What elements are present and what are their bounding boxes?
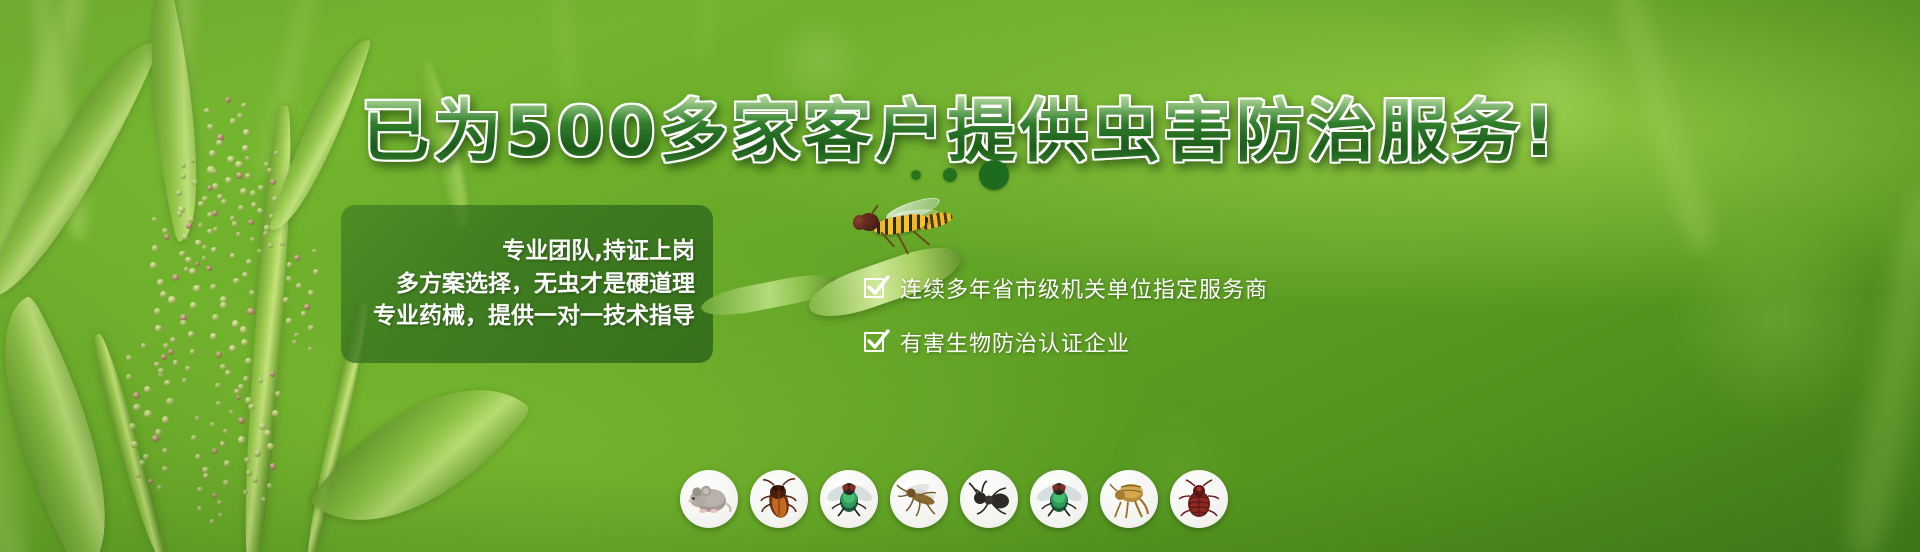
bedbug-icon[interactable]: [1170, 470, 1228, 528]
selling-point-line-1: 专业团队,持证上岗: [341, 235, 695, 268]
selling-point-line-2: 多方案选择，无虫才是硬道理: [341, 268, 695, 301]
decorative-dot-large: [979, 160, 1009, 190]
selling-points-panel: 专业团队,持证上岗 多方案选择，无虫才是硬道理 专业药械，提供一对一技术指导: [341, 205, 713, 363]
housefly-icon[interactable]: [820, 470, 878, 528]
checkbox-checked-icon: [864, 276, 888, 300]
cockroach-icon[interactable]: [750, 470, 808, 528]
decorative-dot-medium: [943, 168, 957, 182]
list-item: 连续多年省市级机关单位指定服务商: [864, 272, 1268, 304]
decorative-dot-small: [911, 170, 921, 180]
flea-icon[interactable]: [1100, 470, 1158, 528]
checkbox-checked-icon: [864, 330, 888, 354]
decorative-dots-row: [911, 160, 1009, 190]
housefly-icon[interactable]: [1030, 470, 1088, 528]
pest-type-icon-row: [680, 470, 1228, 528]
mosquito-icon[interactable]: [890, 470, 948, 528]
certification-bullet-list: 连续多年省市级机关单位指定服务商 有害生物防治认证企业: [864, 272, 1268, 358]
list-item: 有害生物防治认证企业: [864, 326, 1268, 358]
bullet-label: 有害生物防治认证企业: [900, 326, 1130, 358]
selling-point-line-3: 专业药械，提供一对一技术指导: [341, 300, 695, 333]
ant-icon[interactable]: [960, 470, 1018, 528]
bullet-label: 连续多年省市级机关单位指定服务商: [900, 272, 1268, 304]
banner-stage: 已为500多家客户提供虫害防治服务! 专业团队,持证上岗 多方案选择，无虫才是硬…: [0, 0, 1920, 552]
hoverfly-insect-icon: [851, 200, 955, 248]
rodent-mouse-icon[interactable]: [680, 470, 738, 528]
